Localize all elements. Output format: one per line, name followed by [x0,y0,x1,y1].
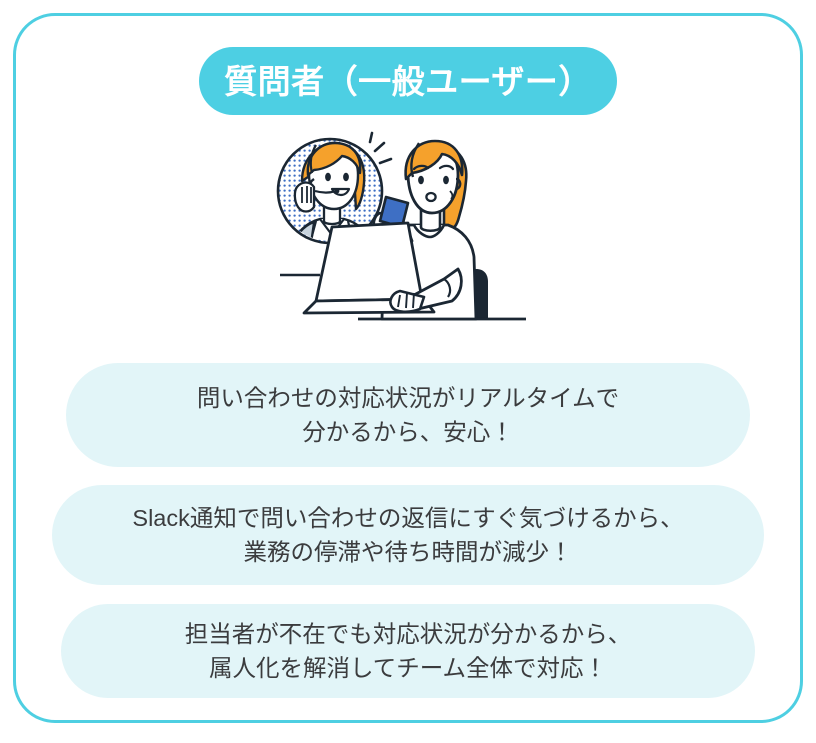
bubble-line: 属人化を解消してチーム全体で対応！ [209,651,607,685]
bubble-slack-notification: Slack通知で問い合わせの返信にすぐ気づけるから、 業務の停滞や待ち時間が減少… [52,485,764,585]
laptop-screen [316,223,422,301]
page-title-pill: 質問者（一般ユーザー） [199,47,617,115]
content-card: 質問者（一般ユーザー） [13,13,803,723]
benefit-bubble-list: 問い合わせの対応状況がリアルタイムで 分かるから、安心！ Slack通知で問い合… [16,363,800,698]
page-root: 質問者（一般ユーザー） [0,0,816,743]
persona-illustration [258,129,558,354]
bubble-team-response: 担当者が不在でも対応状況が分かるから、 属人化を解消してチーム全体で対応！ [61,604,755,698]
bubble-line: 問い合わせの対応状況がリアルタイムで [197,381,619,415]
bubble-realtime-status: 問い合わせの対応状況がリアルタイムで 分かるから、安心！ [66,363,750,467]
page-title: 質問者（一般ユーザー） [224,65,592,98]
sparkle-lines [370,133,391,163]
bubble-line: 業務の停滞や待ち時間が減少！ [244,535,573,569]
bubble-line: Slack通知で問い合わせの返信にすぐ気づけるから、 [132,501,683,535]
eye-right [443,176,449,185]
bubble-line: 分かるから、安心！ [302,415,514,449]
persona-illustration-svg [258,129,558,354]
eye-left [418,176,424,185]
bubble-line: 担当者が不在でも対応状況が分かるから、 [185,617,632,651]
